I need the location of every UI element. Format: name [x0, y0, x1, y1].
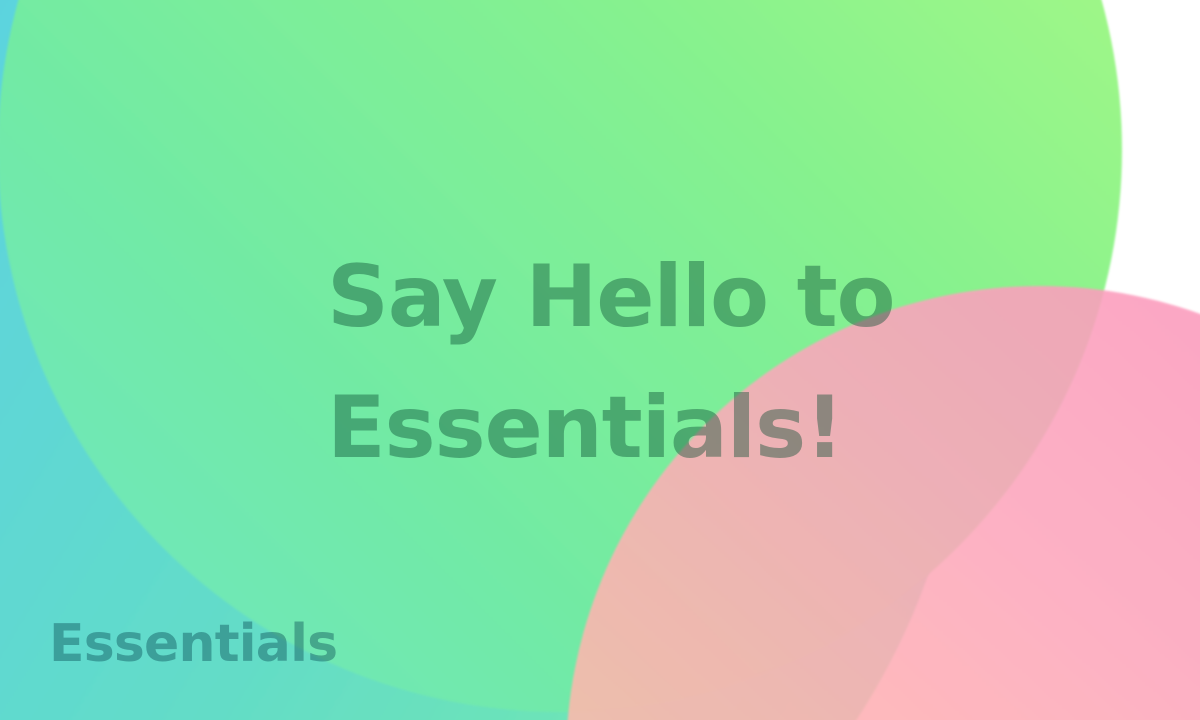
essentials-banner: Say Hello to Essentials! Essentials [0, 0, 1200, 720]
headline: Say Hello to Essentials! [327, 232, 947, 493]
banner-content: Say Hello to Essentials! Essentials [0, 0, 1200, 720]
logo-wordmark: Essentials [49, 618, 337, 670]
